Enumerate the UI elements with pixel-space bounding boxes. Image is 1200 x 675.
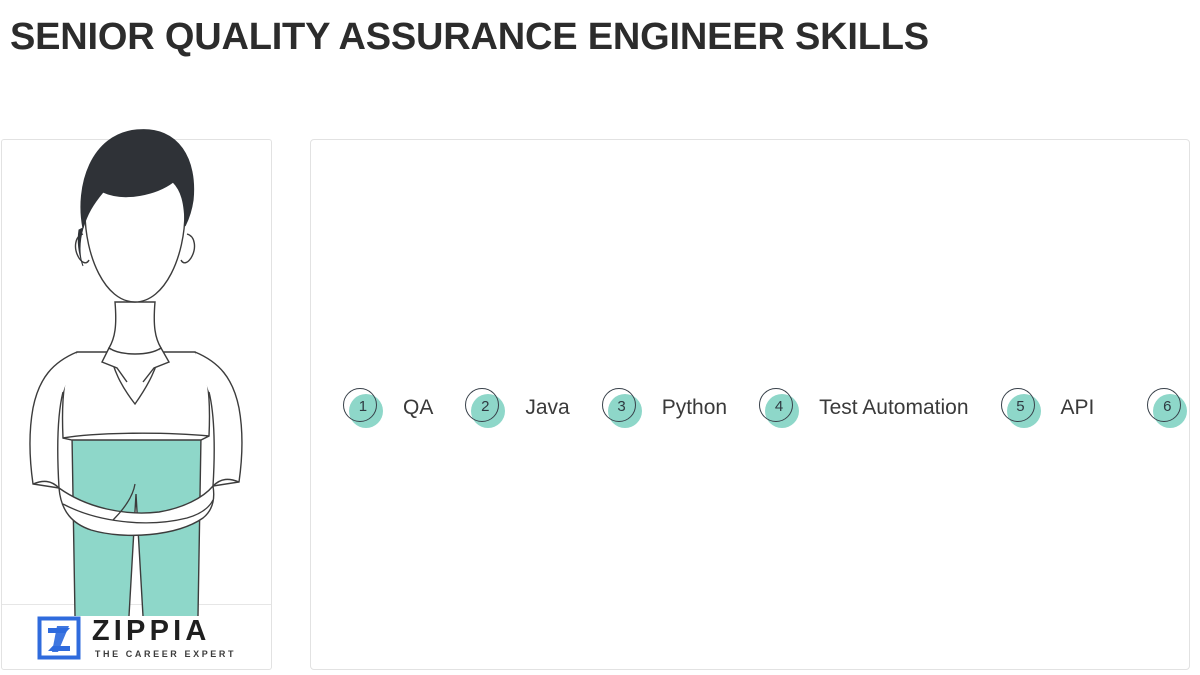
illustration-panel: ZIPPIA THE CAREER EXPERT [1, 139, 272, 670]
skills-panel: 1 QA 2 Java 3 [310, 139, 1190, 670]
rank-number: 5 [1016, 399, 1025, 414]
zippia-z-mark-icon [37, 616, 81, 660]
skill-label: Test Automation [819, 395, 968, 420]
skill-label: Java [525, 395, 569, 420]
rank-badge: 5 [1001, 388, 1041, 428]
zippia-wordmark: ZIPPIA [92, 617, 236, 646]
rank-number: 4 [775, 399, 784, 414]
rank-badge: 1 [343, 388, 383, 428]
infographic-page: SENIOR QUALITY ASSURANCE ENGINEER SKILLS [0, 0, 1200, 675]
rank-badge: 2 [465, 388, 505, 428]
badge-outline-circle: 5 [1001, 388, 1035, 422]
badge-outline-circle: 3 [602, 388, 636, 422]
skill-label: API [1061, 395, 1095, 420]
rank-number: 6 [1163, 399, 1172, 414]
badge-outline-circle: 2 [465, 388, 499, 422]
list-item[interactable]: 3 Python [570, 172, 727, 643]
rank-number: 2 [481, 399, 490, 414]
list-item[interactable]: 2 Java [433, 172, 569, 643]
rank-badge: 3 [602, 388, 642, 428]
zippia-tagline: THE CAREER EXPERT [95, 650, 236, 659]
skill-label: QA [403, 395, 433, 420]
rank-badge: 6 [1147, 388, 1187, 428]
page-title: SENIOR QUALITY ASSURANCE ENGINEER SKILLS [10, 12, 1170, 62]
zippia-logo-text: ZIPPIA THE CAREER EXPERT [92, 617, 236, 659]
rank-number: 3 [617, 399, 626, 414]
badge-outline-circle: 1 [343, 388, 377, 422]
list-item[interactable]: 6 Regression [1094, 172, 1200, 643]
zippia-logo[interactable]: ZIPPIA THE CAREER EXPERT [2, 606, 271, 669]
list-item[interactable]: 1 QA [311, 172, 433, 643]
illustration-stage [2, 140, 271, 605]
rank-badge: 4 [759, 388, 799, 428]
list-item[interactable]: 5 API [969, 172, 1095, 643]
rank-number: 1 [359, 399, 368, 414]
skill-label: Python [662, 395, 727, 420]
skills-list: 1 QA 2 Java 3 [311, 140, 1189, 669]
list-item[interactable]: 4 Test Automation [727, 172, 968, 643]
badge-outline-circle: 6 [1147, 388, 1181, 422]
man-with-crossed-arms-illustration [17, 116, 257, 616]
badge-outline-circle: 4 [759, 388, 793, 422]
